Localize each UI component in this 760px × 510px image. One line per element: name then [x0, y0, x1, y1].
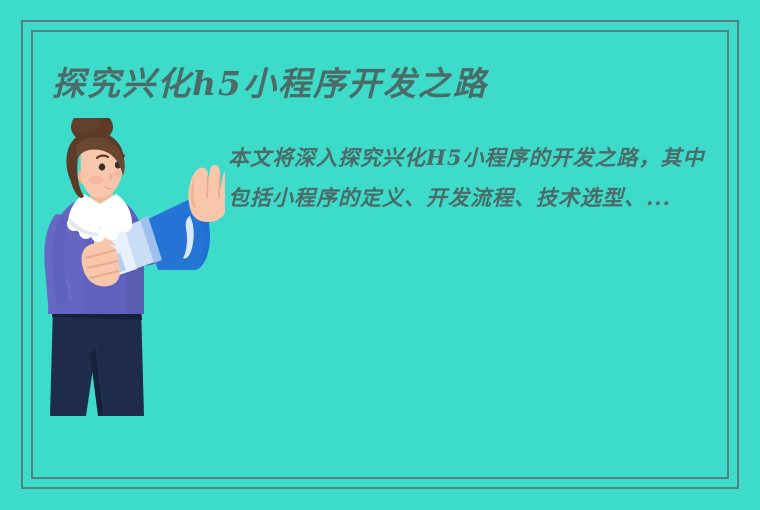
- pants-shape: [50, 306, 144, 416]
- raised-hand-shape: [188, 165, 225, 222]
- summary-text: 本文将深入探究兴化H5小程序的开发之路，其中包括小程序的定义、开发流程、技术选型…: [228, 138, 724, 218]
- page-title: 探究兴化h5小程序开发之路: [52, 62, 712, 106]
- woman-with-megaphone-illustration: [40, 118, 225, 418]
- poster-canvas: 探究兴化h5小程序开发之路 本文将深入探究兴化H5小程序的开发之路，其中包括小程…: [0, 0, 760, 510]
